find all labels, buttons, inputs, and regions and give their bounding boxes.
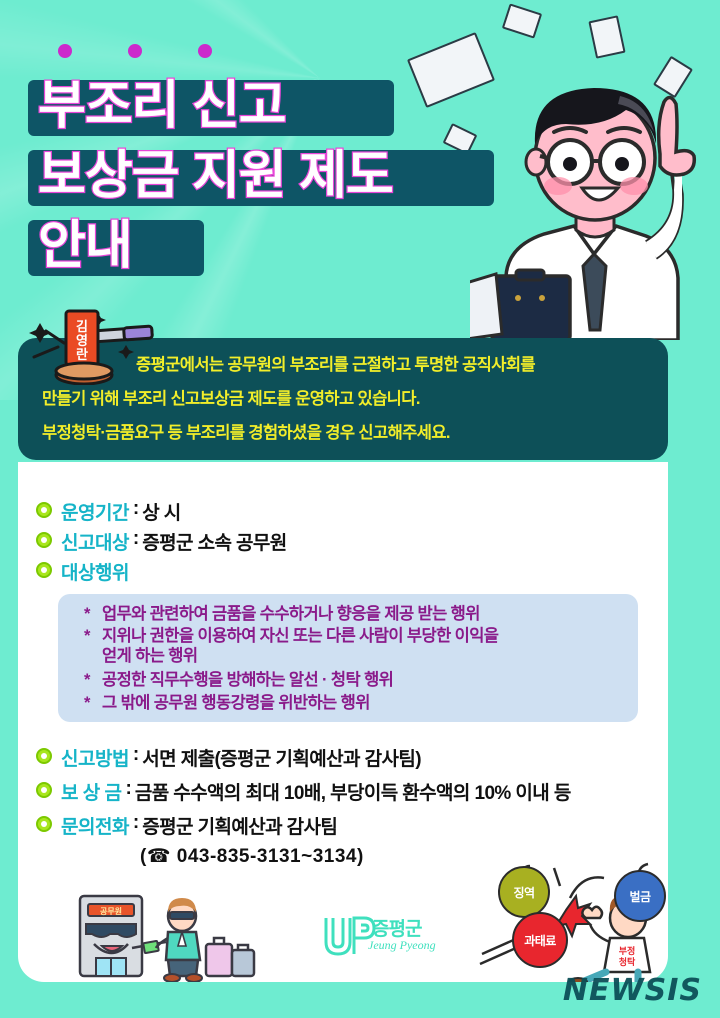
title-line-1-text: 부조리 신고 [28, 72, 296, 140]
contact-phone-number: (☎ 043-835-3131~3134) [140, 845, 364, 868]
asterisk-icon: * [84, 626, 102, 666]
gavel-illustration: 김 영 란 [28, 305, 160, 385]
penalty-bombs-illustration: 부정 청탁 징역 벌금 과태료 [478, 862, 688, 982]
bullet-icon [36, 502, 52, 518]
target-acts-box: * 업무와 관련하여 금품을 수수하거나 향응을 제공 받는 행위 * 지위나 … [58, 594, 638, 722]
info-value: 증평군 소속 공무원 [142, 528, 286, 555]
act-text: 지위나 권한을 이용하여 자신 또는 다른 사람이 부당한 이익을 얻게 하는 … [102, 626, 498, 666]
info-row-operating-period: 운영기간 : 상 시 [36, 498, 181, 525]
intro-message-line-2: 만들기 위해 부조리 신고보상금 제도를 운영하고 있습니다. [42, 390, 420, 409]
bomb-penalty-surcharge: 과태료 [512, 912, 568, 968]
floating-paper-2 [502, 3, 542, 38]
svg-text:영: 영 [76, 333, 88, 348]
bomb-label: 과태료 [524, 932, 556, 949]
jeungpyeong-logo: 증평군 Jeung Pyeong [320, 912, 440, 962]
act-item: * 지위나 권한을 이용하여 자신 또는 다른 사람이 부당한 이익을 얻게 하… [84, 626, 498, 666]
info-separator: : [126, 778, 132, 800]
act-text: 공정한 직무수행을 방해하는 알선 · 청탁 행위 [102, 670, 393, 690]
info-value: 서면 제출(증평군 기획예산과 감사팀) [142, 744, 421, 771]
logo-english-text: Jeung Pyeong [368, 938, 436, 953]
asterisk-icon: * [84, 670, 102, 690]
info-label: 신고대상 [61, 528, 129, 555]
bomb-penalty-imprisonment: 징역 [498, 866, 550, 918]
info-row-report-target: 신고대상 : 증평군 소속 공무원 [36, 528, 287, 555]
title-line-2: 보상금 지원 제도 [28, 142, 508, 210]
act-item: * 업무와 관련하여 금품을 수수하거나 향응을 제공 받는 행위 [84, 604, 480, 624]
title-line-2-text: 보상금 지원 제도 [28, 142, 403, 210]
info-value: 증평군 기획예산과 감사팀 [142, 812, 337, 839]
info-label: 보 상 금 [61, 778, 122, 805]
svg-text:김: 김 [76, 319, 88, 334]
poster-root: 부조리 신고 보상금 지원 제도 안내 [0, 0, 720, 1018]
newsis-watermark: NEWSIS [563, 973, 702, 1008]
info-separator: : [133, 744, 139, 766]
title-line-1: 부조리 신고 [28, 72, 508, 140]
info-label: 신고방법 [61, 744, 129, 771]
bomb-label: 징역 [513, 884, 534, 901]
info-label: 대상행위 [61, 558, 129, 585]
info-row-report-method: 신고방법 : 서면 제출(증평군 기획예산과 감사팀) [36, 744, 421, 771]
bullet-icon [36, 532, 52, 548]
act-item: * 공정한 직무수행을 방해하는 알선 · 청탁 행위 [84, 670, 393, 690]
info-separator: : [133, 528, 139, 550]
bullet-icon [36, 816, 52, 832]
decor-dot-2 [128, 44, 142, 58]
intro-message-line-1: 증평군에서는 공무원의 부조리를 근절하고 투명한 공직사회를 [136, 356, 535, 375]
pointing-man-illustration [470, 62, 700, 340]
bullet-icon [36, 562, 52, 578]
svg-text:부정: 부정 [619, 945, 636, 956]
info-separator: : [133, 498, 139, 520]
logo-korean-text: 증평군 [372, 914, 421, 941]
info-value: 금품 수수액의 최대 10배, 부당이득 환수액의 10% 이내 등 [135, 778, 571, 805]
act-item: * 그 밖에 공무원 행동강령을 위반하는 행위 [84, 693, 370, 713]
svg-text:청탁: 청탁 [619, 956, 636, 967]
atm-and-traveler-illustration: 공무원 [70, 890, 260, 982]
bomb-penalty-fine: 벌금 [614, 870, 666, 922]
info-value: 상 시 [142, 498, 180, 525]
svg-text:란: 란 [76, 347, 88, 362]
info-separator: : [133, 812, 139, 834]
bomb-label: 벌금 [629, 888, 650, 905]
bullet-icon [36, 782, 52, 798]
decor-dot-1 [58, 44, 72, 58]
info-row-target-acts: 대상행위 [36, 558, 129, 585]
decor-dot-3 [198, 44, 212, 58]
asterisk-icon: * [84, 693, 102, 713]
info-row-reward: 보 상 금 : 금품 수수액의 최대 10배, 부당이득 환수액의 10% 이내… [36, 778, 571, 805]
act-text: 그 밖에 공무원 행동강령을 위반하는 행위 [102, 693, 370, 713]
asterisk-icon: * [84, 604, 102, 624]
floating-paper-3 [588, 15, 625, 58]
info-row-contact: 문의전화 : 증평군 기획예산과 감사팀 [36, 812, 337, 839]
title-line-3-text: 안내 [28, 212, 142, 280]
title-line-3: 안내 [28, 212, 508, 280]
bullet-icon [36, 748, 52, 764]
intro-message-line-3: 부정청탁·금품요구 등 부조리를 경험하셨을 경우 신고해주세요. [42, 424, 450, 443]
poster-title: 부조리 신고 보상금 지원 제도 안내 [28, 72, 508, 282]
act-text: 업무와 관련하여 금품을 수수하거나 향응을 제공 받는 행위 [102, 604, 480, 624]
info-label: 운영기간 [61, 498, 129, 525]
info-label: 문의전화 [61, 812, 129, 839]
svg-text:공무원: 공무원 [100, 906, 122, 916]
